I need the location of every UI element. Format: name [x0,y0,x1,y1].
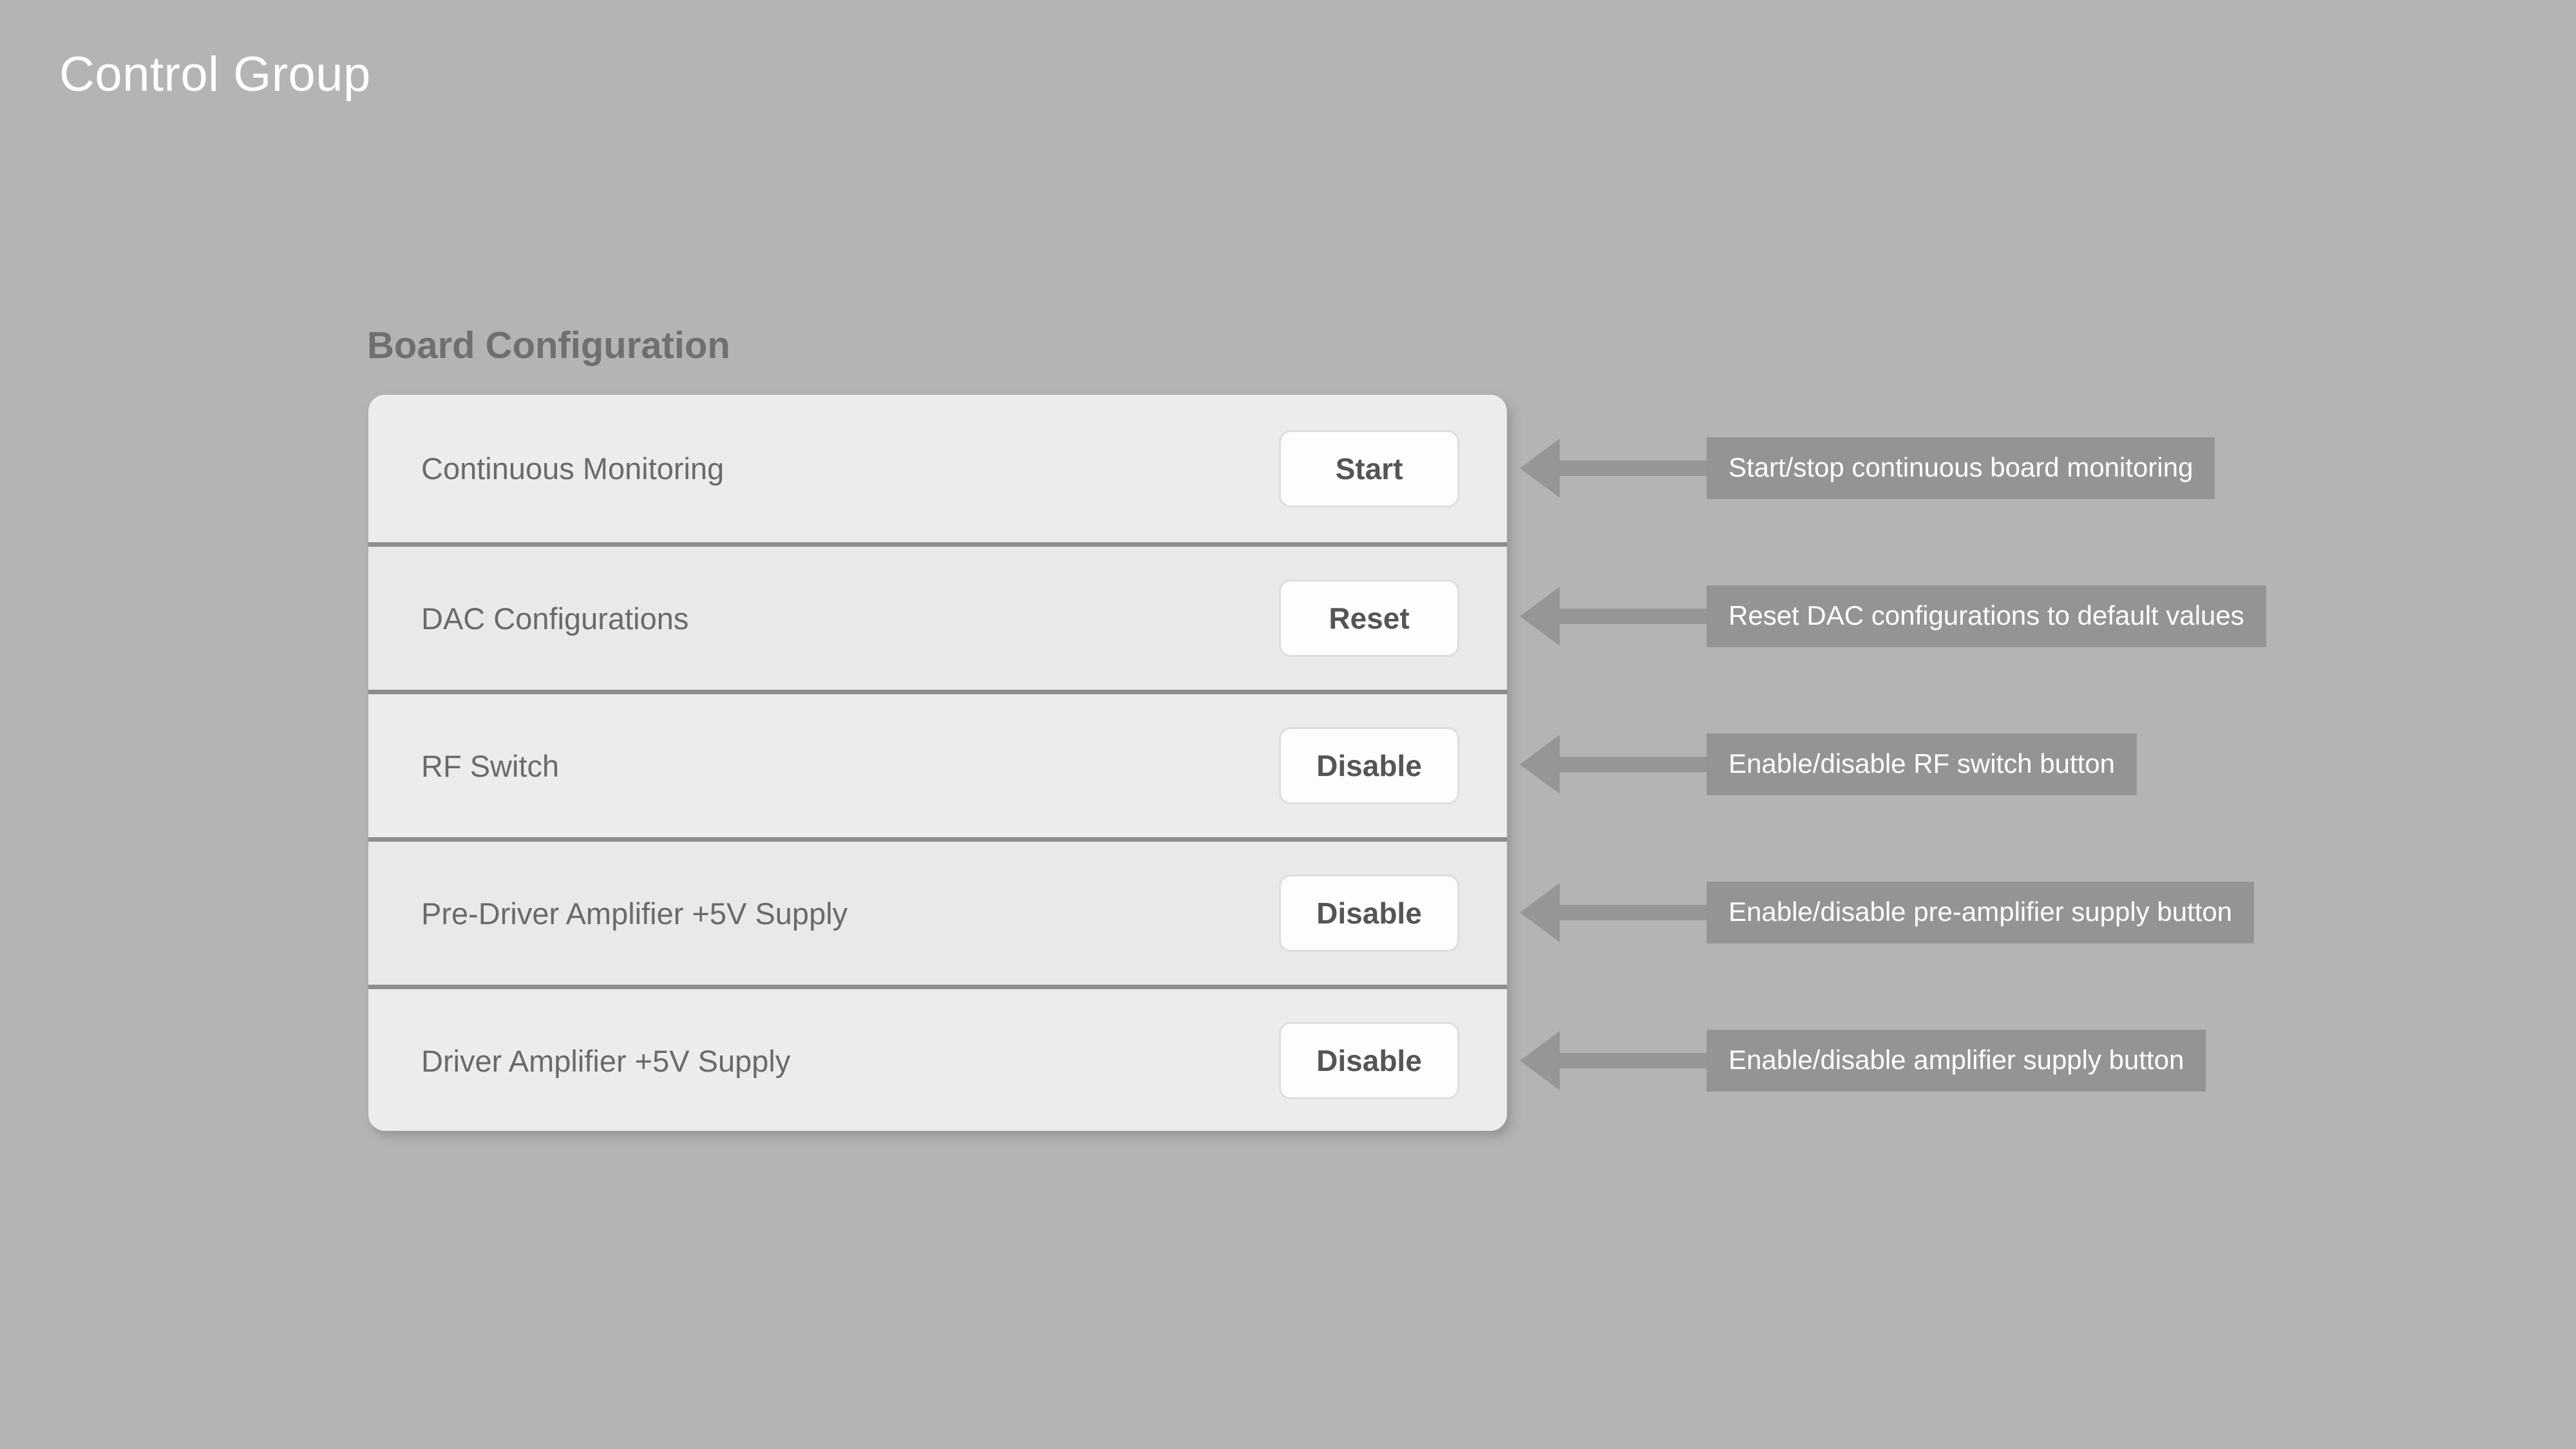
annotation-connector-line [1560,1053,1707,1068]
annotation-label: Start/stop continuous board monitoring [1707,437,2215,499]
row-label-pre-driver-amplifier-supply: Pre-Driver Amplifier +5V Supply [421,898,848,929]
annotation-label: Enable/disable amplifier supply button [1707,1030,2206,1092]
continuous-monitoring-button[interactable]: Start [1279,430,1459,507]
driver-amplifier-supply-button[interactable]: Disable [1279,1022,1459,1099]
arrow-left-icon [1520,1031,1560,1090]
annotation-dac-configurations: Reset DAC configurations to default valu… [1520,582,2266,651]
table-row: Driver Amplifier +5V Supply Disable [368,985,1507,1131]
arrow-left-icon [1520,735,1560,794]
annotation-continuous-monitoring: Start/stop continuous board monitoring [1520,433,2215,503]
annotation-connector-line [1560,757,1707,772]
arrow-left-icon [1520,439,1560,498]
arrow-left-icon [1520,587,1560,646]
page-title: Control Group [59,50,371,99]
table-row: Continuous Monitoring Start [368,395,1507,542]
table-row: DAC Configurations Reset [368,542,1507,690]
annotation-connector-line [1560,609,1707,624]
table-row: RF Switch Disable [368,690,1507,837]
board-configuration-card: Continuous Monitoring Start DAC Configur… [368,395,1507,1131]
pre-driver-amplifier-supply-button[interactable]: Disable [1279,875,1459,952]
annotation-driver-amplifier-supply: Enable/disable amplifier supply button [1520,1026,2206,1095]
annotation-label: Enable/disable pre-amplifier supply butt… [1707,882,2254,943]
annotation-connector-line [1560,905,1707,920]
table-row: Pre-Driver Amplifier +5V Supply Disable [368,837,1507,985]
row-label-driver-amplifier-supply: Driver Amplifier +5V Supply [421,1046,790,1076]
row-label-rf-switch: RF Switch [421,751,559,781]
annotation-rf-switch: Enable/disable RF switch button [1520,730,2137,799]
arrow-left-icon [1520,883,1560,942]
rf-switch-toggle-button[interactable]: Disable [1279,727,1459,804]
section-heading: Board Configuration [367,327,730,365]
dac-configurations-reset-button[interactable]: Reset [1279,580,1459,657]
row-label-continuous-monitoring: Continuous Monitoring [421,453,724,484]
annotation-connector-line [1560,460,1707,476]
row-label-dac-configurations: DAC Configurations [421,603,688,634]
annotation-label: Reset DAC configurations to default valu… [1707,585,2266,647]
annotation-label: Enable/disable RF switch button [1707,734,2137,795]
annotation-pre-driver-amplifier-supply: Enable/disable pre-amplifier supply butt… [1520,878,2254,947]
